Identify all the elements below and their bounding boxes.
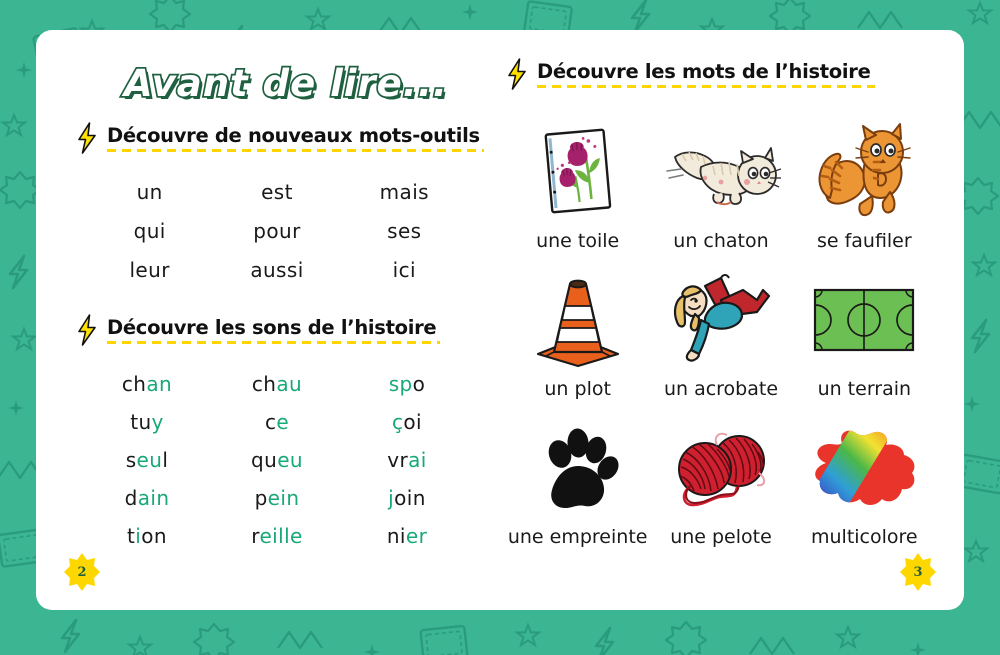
vocabulary-item-label: un plot	[544, 378, 611, 400]
son-word: queu	[251, 448, 303, 472]
mot-outil-word: leur	[129, 258, 169, 282]
worksheet-sheet: Avant de lire... Découvre de nouveaux mo…	[36, 30, 964, 610]
mot-outil-word: qui	[134, 219, 166, 243]
lightning-bolt-icon	[506, 58, 528, 90]
vocabulary-item-label: multicolore	[811, 526, 918, 548]
vocabulary-item: se faufiler	[793, 118, 936, 252]
vocabulary-item-label: une pelote	[670, 526, 772, 548]
son-word: join	[388, 486, 426, 510]
son-word: çoi	[392, 410, 422, 434]
mot-outil-word: est	[261, 180, 293, 204]
heading-mots-outils: Découvre de nouveaux mots-outils	[76, 122, 486, 154]
vocabulary-picture-grid: une toile	[506, 118, 936, 548]
heading-sons-label: Découvre les sons de l’histoire	[107, 316, 436, 344]
paw-print-icon	[513, 414, 643, 522]
mot-outil-word: un	[137, 180, 163, 204]
son-word: pein	[255, 486, 300, 510]
son-word: dain	[125, 486, 170, 510]
son-word-part: c	[265, 410, 276, 434]
son-word: chau	[252, 372, 302, 396]
canvas-with-tulips-icon	[513, 118, 643, 226]
left-column: Avant de lire... Découvre de nouveaux mo…	[76, 48, 486, 548]
son-word-part: ch	[122, 372, 146, 396]
heading-mots-outils-label: Découvre de nouveaux mots-outils	[107, 124, 480, 152]
son-word-part: oi	[403, 410, 422, 434]
son-word: vrai	[387, 448, 426, 472]
son-word: tuy	[130, 410, 164, 434]
son-word: ce	[265, 410, 289, 434]
son-word-part: ch	[252, 372, 276, 396]
son-word-part: qu	[251, 448, 277, 472]
son-word: spo	[389, 372, 426, 396]
son-word-part: ai	[408, 448, 427, 472]
vocabulary-item: une toile	[506, 118, 649, 252]
son-word: seul	[126, 448, 169, 472]
mot-outil-word: aussi	[250, 258, 303, 282]
page-title: Avant de lire...	[124, 62, 448, 105]
page-number-left-label: 2	[77, 565, 86, 580]
son-word-part: au	[276, 372, 302, 396]
son-word-part: ein	[268, 486, 300, 510]
son-word-part: e	[276, 410, 289, 434]
vocabulary-item-label: une toile	[536, 230, 619, 252]
rainbow-splat-icon	[799, 414, 929, 522]
son-word-part: tu	[130, 410, 151, 434]
son-word: chan	[122, 372, 172, 396]
mot-outil-word: pour	[253, 219, 300, 243]
son-word-part: ain	[138, 486, 170, 510]
heading-mots-histoire: Découvre les mots de l’histoire	[506, 58, 936, 90]
traffic-cone-icon	[513, 266, 643, 374]
vocabulary-item-label: se faufiler	[817, 230, 912, 252]
page-title-container: Avant de lire...	[76, 48, 486, 122]
heading-sons: Découvre les sons de l’histoire	[76, 314, 486, 346]
workbook-page: Avant de lire... Découvre de nouveaux mo…	[0, 0, 1000, 655]
son-word: reille	[251, 524, 302, 548]
mot-outil-word: ses	[387, 219, 421, 243]
page-number-right: 3	[898, 552, 938, 592]
vocabulary-item-label: une empreinte	[508, 526, 648, 548]
son-word-part: an	[146, 372, 172, 396]
son-word: nier	[387, 524, 427, 548]
son-word-part: d	[125, 486, 138, 510]
vocabulary-item: une empreinte	[506, 414, 649, 548]
yarn-balls-icon	[656, 414, 786, 522]
vocabulary-item: un chaton	[649, 118, 792, 252]
heading-mots-histoire-label: Découvre les mots de l’histoire	[537, 60, 871, 88]
page-number-right-label: 3	[913, 565, 922, 580]
orange-tabby-cat-icon	[799, 118, 929, 226]
son-word-part: y	[152, 410, 164, 434]
vocabulary-item: multicolore	[793, 414, 936, 548]
vocabulary-item-label: un chaton	[673, 230, 768, 252]
acrobat-handstand-icon	[656, 266, 786, 374]
son-word-part: eu	[137, 448, 163, 472]
soccer-field-icon	[799, 266, 929, 374]
page-number-left: 2	[62, 552, 102, 592]
son-word-part: er	[406, 524, 427, 548]
mot-outil-word: ici	[393, 258, 416, 282]
lightning-bolt-icon	[76, 314, 98, 346]
son-word-part: l	[162, 448, 168, 472]
son-word-part: eu	[277, 448, 303, 472]
leaping-kitten-icon	[656, 118, 786, 226]
son-word-part: o	[413, 372, 426, 396]
son-word-part: eille	[259, 524, 302, 548]
son-word-part: vr	[387, 448, 408, 472]
vocabulary-item: un acrobate	[649, 266, 792, 400]
vocabulary-item: un plot	[506, 266, 649, 400]
vocabulary-item-label: un terrain	[818, 378, 912, 400]
vocabulary-item: une pelote	[649, 414, 792, 548]
vocabulary-item-label: un acrobate	[664, 378, 778, 400]
mot-outil-word: mais	[380, 180, 429, 204]
son-word-part: p	[255, 486, 268, 510]
right-column: Découvre les mots de l’histoire	[506, 58, 936, 548]
son-word-part: sp	[389, 372, 413, 396]
sons-grid: chanchauspotuyceçoiseulqueuvraidainpeinj…	[76, 372, 486, 548]
son-word-part: on	[141, 524, 167, 548]
son-word-part: oin	[394, 486, 426, 510]
lightning-bolt-icon	[76, 122, 98, 154]
son-word-part: ç	[392, 410, 403, 434]
vocabulary-item: un terrain	[793, 266, 936, 400]
mots-outils-grid: unestmaisquipoursesleuraussiici	[76, 180, 486, 282]
son-word-part: s	[126, 448, 137, 472]
son-word: tion	[127, 524, 167, 548]
son-word-part: ni	[387, 524, 406, 548]
